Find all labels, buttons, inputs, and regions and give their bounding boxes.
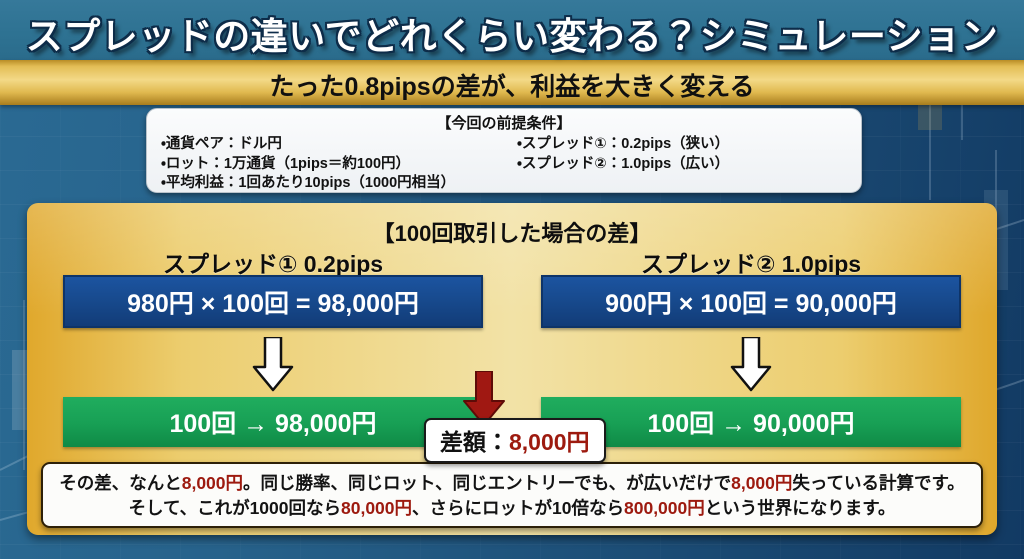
- page-subtitle: たった0.8pipsの差が、利益を大きく変える: [0, 67, 1024, 103]
- premise-column-left: ・通貨ペア：ドル円 ・ロット：1万通貨（1pips＝約100円） ・平均利益：1…: [161, 135, 491, 194]
- premise-item: ・ロット：1万通貨（1pips＝約100円）: [161, 155, 491, 175]
- summary-line-1: その差、なんと8,000円。同じ勝率、同じロット、同じエントリーでも、が広いだけ…: [55, 471, 969, 496]
- premise-item: ・スプレッド②：1.0pips（広い）: [517, 155, 847, 175]
- summary-text: 失っている計算です。: [792, 473, 964, 493]
- summary-highlight: 8,000円: [182, 473, 243, 493]
- column-header-spread-1: スプレッド① 0.2pips: [63, 245, 483, 279]
- difference-badge: 差額：8,000円: [424, 418, 606, 463]
- down-arrow-icon: [251, 337, 295, 392]
- summary-box: その差、なんと8,000円。同じ勝率、同じロット、同じエントリーでも、が広いだけ…: [41, 462, 983, 528]
- summary-highlight: 800,000円: [624, 498, 705, 518]
- difference-label: 差額：: [440, 429, 509, 455]
- result-bar-spread-1: 100回 → 98,000円: [63, 397, 483, 447]
- summary-highlight: 8,000円: [731, 473, 792, 493]
- premise-item: ・スプレッド①：0.2pips（狭い）: [517, 135, 847, 155]
- column-header-spread-2: スプレッド② 1.0pips: [541, 245, 961, 279]
- calculation-bar-spread-2: 900円 × 100回 = 90,000円: [541, 275, 961, 328]
- comparison-panel-title: 【100回取引した場合の差】: [0, 216, 1024, 248]
- summary-line-2: そして、これが1000回なら80,000円、さらにロットが10倍なら800,00…: [55, 496, 969, 521]
- premise-columns: ・通貨ペア：ドル円 ・ロット：1万通貨（1pips＝約100円） ・平均利益：1…: [161, 135, 847, 194]
- summary-text: その差、なんと: [59, 473, 182, 493]
- summary-text: 。同じ勝率、同じロット、同じエントリーでも、が広いだけで: [243, 473, 731, 493]
- premise-conditions-box: 【今回の前提条件】 ・通貨ペア：ドル円 ・ロット：1万通貨（1pips＝約100…: [146, 108, 862, 193]
- difference-amount: 8,000円: [509, 429, 590, 455]
- summary-text: という世界になります。: [705, 498, 896, 518]
- down-arrow-icon: [729, 337, 773, 392]
- page-title: スプレッドの違いでどれくらい変わる？シミュレーション: [0, 6, 1024, 60]
- premise-title: 【今回の前提条件】: [161, 114, 847, 133]
- premise-item: ・平均利益：1回あたり10pips（1000円相当）: [161, 174, 491, 194]
- summary-text: 、さらにロットが10倍なら: [412, 498, 624, 518]
- calculation-bar-spread-1: 980円 × 100回 = 98,000円: [63, 275, 483, 328]
- summary-text: そして、これが1000回なら: [128, 498, 341, 518]
- premise-column-right: ・スプレッド①：0.2pips（狭い） ・スプレッド②：1.0pips（広い）: [491, 135, 847, 194]
- summary-highlight: 80,000円: [341, 498, 412, 518]
- premise-item: ・通貨ペア：ドル円: [161, 135, 491, 155]
